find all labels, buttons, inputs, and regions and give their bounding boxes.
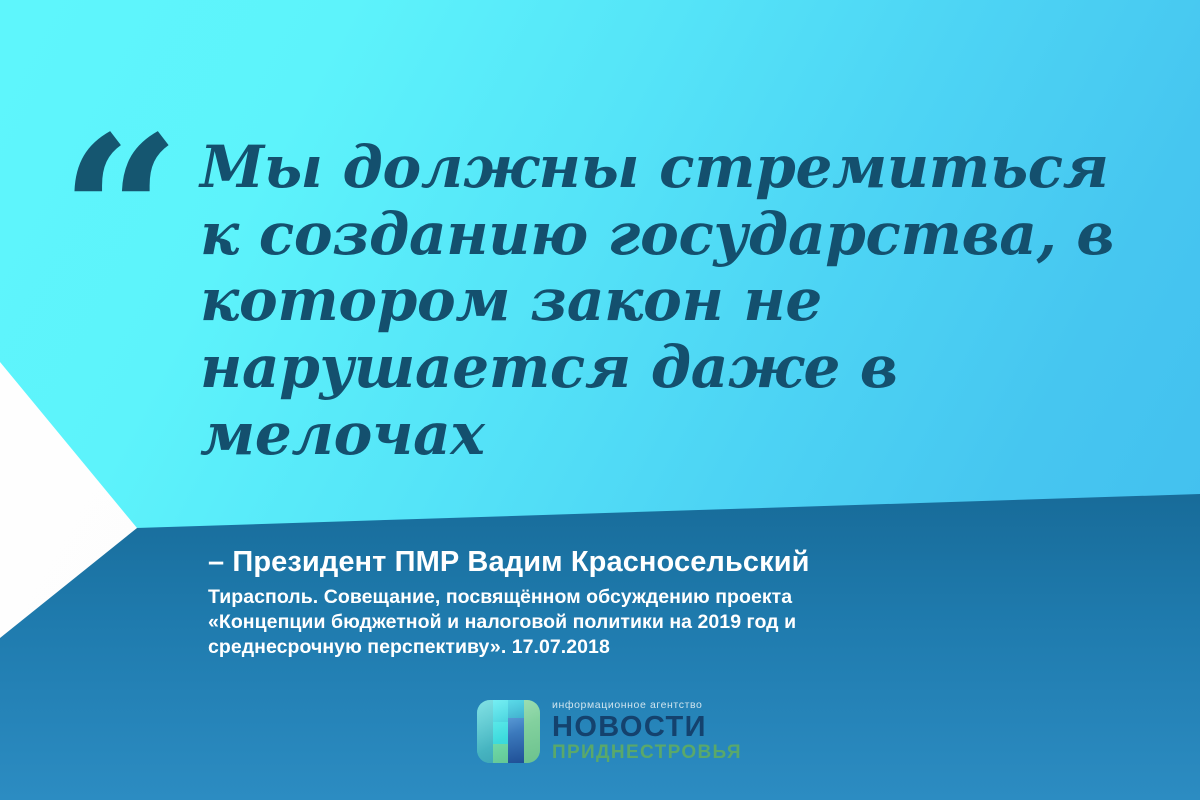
quote-block: “ Мы должны стремиться к созданию госуда… <box>60 128 1170 467</box>
attribution-author: – Президент ПМР Вадим Красносельский <box>208 545 968 580</box>
agency-logo-mark-icon <box>477 700 540 763</box>
quote-text: Мы должны стремиться к созданию государс… <box>200 128 1160 467</box>
agency-logo-name: НОВОСТИ <box>552 713 742 743</box>
attribution-block: – Президент ПМР Вадим Красносельский Тир… <box>208 545 968 661</box>
attribution-context-line-2: «Концепции бюджетной и налоговой политик… <box>208 610 968 635</box>
agency-logo-kicker: информационное агентство <box>552 700 742 711</box>
logo-gloss-overlay <box>477 700 540 763</box>
agency-logo-text: информационное агентство НОВОСТИ ПРИДНЕС… <box>552 700 742 763</box>
attribution-context: Тирасполь. Совещание, посвящённом обсужд… <box>208 585 968 661</box>
quotation-mark-icon: “ <box>60 132 200 296</box>
quote-card: “ Мы должны стремиться к созданию госуда… <box>0 0 1200 800</box>
agency-logo-region: ПРИДНЕСТРОВЬЯ <box>552 743 742 763</box>
attribution-context-line-3: среднесрочную перспективу». 17.07.2018 <box>208 635 968 660</box>
agency-logo: информационное агентство НОВОСТИ ПРИДНЕС… <box>477 700 742 763</box>
attribution-context-line-1: Тирасполь. Совещание, посвящённом обсужд… <box>208 585 968 610</box>
